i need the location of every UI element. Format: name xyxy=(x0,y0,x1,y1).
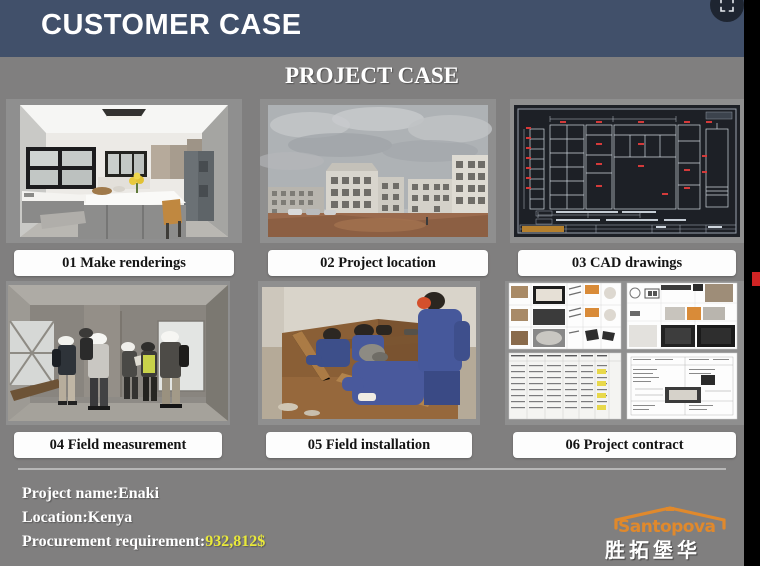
card-caption: 03 CAD drawings xyxy=(518,250,736,276)
case-card-02[interactable]: 02 Project location xyxy=(260,99,496,277)
case-card-03[interactable]: 03 CAD drawings xyxy=(510,99,744,277)
header-bar: CUSTOMER CASE xyxy=(0,0,760,57)
workers-measuring-bare-room-photo xyxy=(6,281,230,425)
divider xyxy=(18,468,726,470)
company-logo: Santopova 胜拓堡华 xyxy=(600,506,740,560)
procurement-row: Procurement requirement:932,812$ xyxy=(22,530,265,554)
section-title: PROJECT CASE xyxy=(0,63,744,89)
cad-cabinet-elevation-drawing xyxy=(510,99,744,243)
card-caption: 04 Field measurement xyxy=(14,432,222,458)
kitchen-3d-rendering xyxy=(6,99,242,243)
case-card-04[interactable]: 04 Field measurement xyxy=(6,281,230,459)
workers-installing-wood-cabinets-photo xyxy=(258,281,480,425)
expand-icon[interactable] xyxy=(710,0,744,22)
card-caption: 02 Project location xyxy=(268,250,488,276)
right-gutter xyxy=(744,0,760,566)
procurement-label: Procurement requirement: xyxy=(22,533,205,550)
project-name-row: Project name:Enaki xyxy=(22,482,265,506)
project-info: Project name:Enaki Location:Kenya Procur… xyxy=(22,482,265,554)
location-label: Location: xyxy=(22,509,88,526)
apartment-construction-site-photo xyxy=(260,99,496,243)
project-name-value: Enaki xyxy=(118,485,159,502)
page-title: CUSTOMER CASE xyxy=(41,9,302,42)
red-marker xyxy=(752,272,760,286)
project-name-label: Project name: xyxy=(22,485,118,502)
card-caption: 01 Make renderings xyxy=(14,250,234,276)
location-row: Location:Kenya xyxy=(22,506,265,530)
logo-chinese-text: 胜拓堡华 xyxy=(605,534,701,563)
location-value: Kenya xyxy=(88,509,132,526)
card-caption: 06 Project contract xyxy=(513,432,736,458)
slide-canvas: CUSTOMER CASE PROJECT CASE xyxy=(0,0,760,566)
case-card-06[interactable]: 06 Project contract xyxy=(505,281,744,459)
card-caption: 05 Field installation xyxy=(266,432,472,458)
santopova-wordmark: Santopova xyxy=(600,506,740,536)
procurement-value: 932,812$ xyxy=(205,533,265,550)
case-card-01[interactable]: 01 Make renderings xyxy=(6,99,242,277)
contract-document-thumbnails xyxy=(505,281,744,425)
case-card-05[interactable]: 05 Field installation xyxy=(258,281,480,459)
